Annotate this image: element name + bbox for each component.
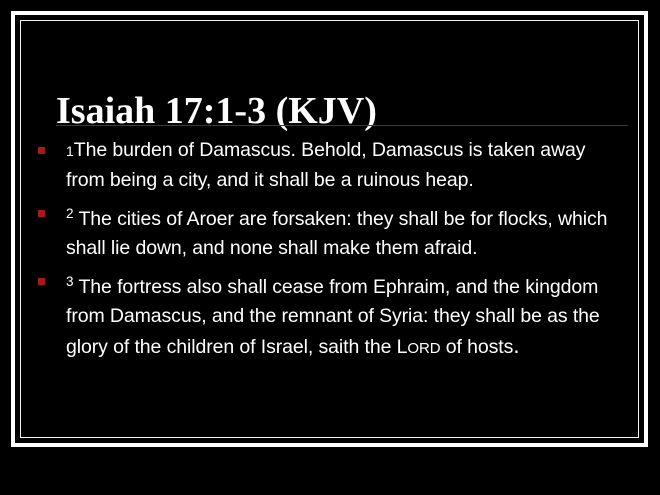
list-item: 3 The fortress also shall cease from Eph… xyxy=(38,267,623,363)
bullet-square-icon xyxy=(38,210,45,217)
slide-canvas: Isaiah 17:1-3 (KJV) 1The burden of Damas… xyxy=(0,0,660,495)
verse-text-after-divine-name: of hosts xyxy=(440,336,513,358)
slide-content: Isaiah 17:1-3 (KJV) 1The burden of Damas… xyxy=(25,24,635,434)
verse-text: The cities of Aroer are forsaken: they s… xyxy=(66,208,607,259)
verse-number: 1 xyxy=(66,143,74,159)
list-item: 2 The cities of Aroer are forsaken: they… xyxy=(38,199,623,263)
divine-name-initial: L xyxy=(397,336,408,358)
verse-text: The burden of Damascus. Behold, Damascus… xyxy=(66,139,585,191)
title-divider xyxy=(56,125,628,126)
verse-end-punctuation: . xyxy=(513,332,519,358)
verse-number: 2 xyxy=(66,206,74,221)
scripture-bullet-list: 1The burden of Damascus. Behold, Damascu… xyxy=(38,136,623,367)
divine-name-smallcaps: ORD xyxy=(407,340,440,357)
verse-number: 3 xyxy=(66,274,74,289)
bullet-square-icon xyxy=(38,147,45,154)
list-item: 1The burden of Damascus. Behold, Damascu… xyxy=(38,136,623,195)
verse-text-before-divine-name: The fortress also shall cease from Ephra… xyxy=(66,276,600,358)
bullet-square-icon xyxy=(38,278,45,285)
page-title: Isaiah 17:1-3 (KJV) xyxy=(56,89,616,133)
